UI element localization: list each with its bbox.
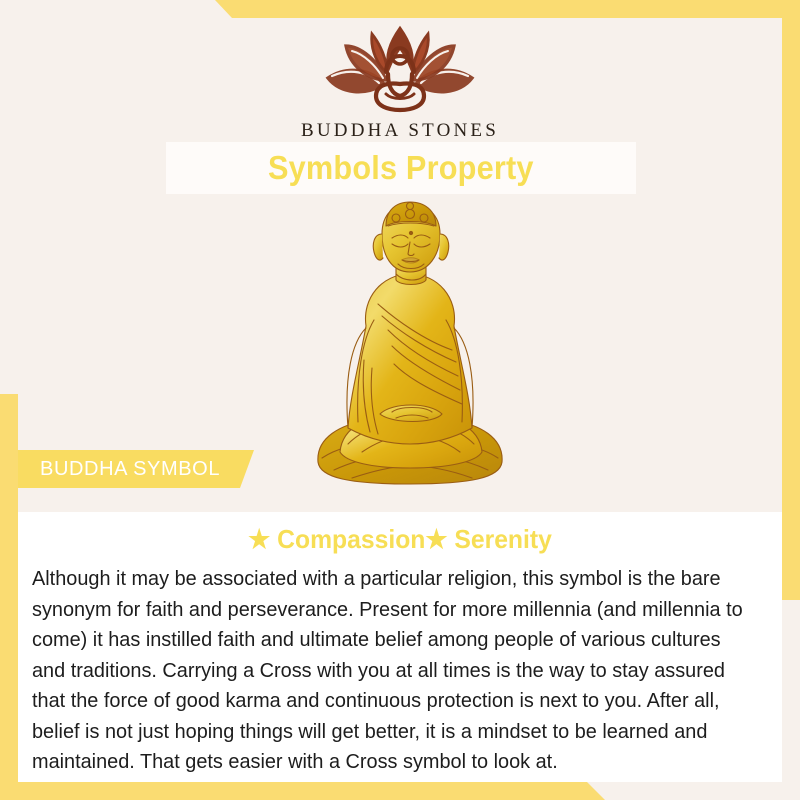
left-accent-band xyxy=(0,394,18,800)
top-accent-band xyxy=(0,0,800,18)
description-card: ★ Compassion★ Serenity Although it may b… xyxy=(18,512,782,782)
lotus-meditation-icon xyxy=(316,22,484,118)
section-label-ribbon: BUDDHA SYMBOL xyxy=(18,450,254,488)
bottom-accent-band xyxy=(0,782,800,800)
subheading: ★ Compassion★ Serenity xyxy=(37,524,763,555)
buddha-statue-image xyxy=(300,200,520,496)
page-title: Symbols Property xyxy=(268,149,534,187)
section-label-text: BUDDHA SYMBOL xyxy=(18,458,220,481)
poster-root: BUDDHA STONES Symbols Property xyxy=(0,0,800,800)
brand-name: BUDDHA STONES xyxy=(0,120,800,142)
body-paragraph: Although it may be associated with a par… xyxy=(32,564,746,778)
title-banner: Symbols Property xyxy=(166,142,636,194)
brand-logo: BUDDHA STONES xyxy=(0,22,800,142)
